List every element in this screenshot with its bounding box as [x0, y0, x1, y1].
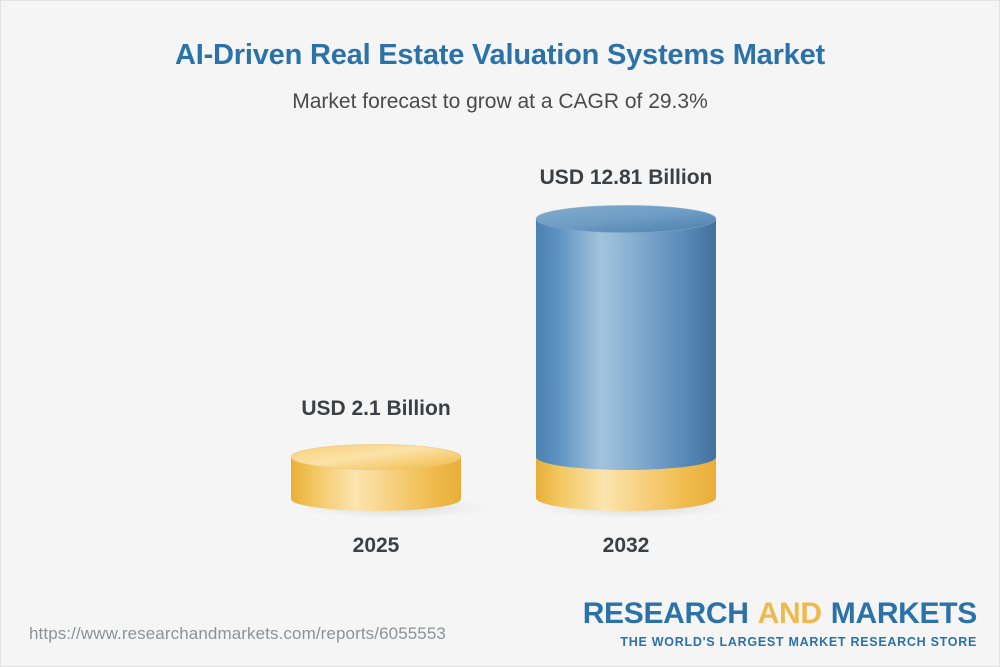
bar-category-label-2032: 2032	[456, 534, 796, 558]
logo-wordmark: RESEARCHANDMARKETS	[583, 599, 977, 629]
logo-tagline: THE WORLD'S LARGEST MARKET RESEARCH STOR…	[583, 636, 977, 649]
report-url[interactable]: https://www.researchandmarkets.com/repor…	[29, 624, 446, 644]
cylinder-bar-2025	[291, 445, 491, 519]
logo-word-and: AND	[758, 597, 822, 630]
cylinder-bar-2032	[536, 206, 751, 521]
research-and-markets-logo[interactable]: RESEARCHANDMARKETS THE WORLD'S LARGEST M…	[583, 599, 977, 649]
infographic-canvas: AI-Driven Real Estate Valuation Systems …	[0, 0, 1000, 667]
logo-word-markets: MARKETS	[831, 597, 977, 630]
bar-value-label-2025: USD 2.1 Billion	[206, 397, 546, 421]
chart-plot-area: USD 2.1 Billion	[1, 1, 1000, 667]
bar-value-label-2032: USD 12.81 Billion	[456, 166, 796, 190]
logo-word-research: RESEARCH	[583, 597, 749, 630]
